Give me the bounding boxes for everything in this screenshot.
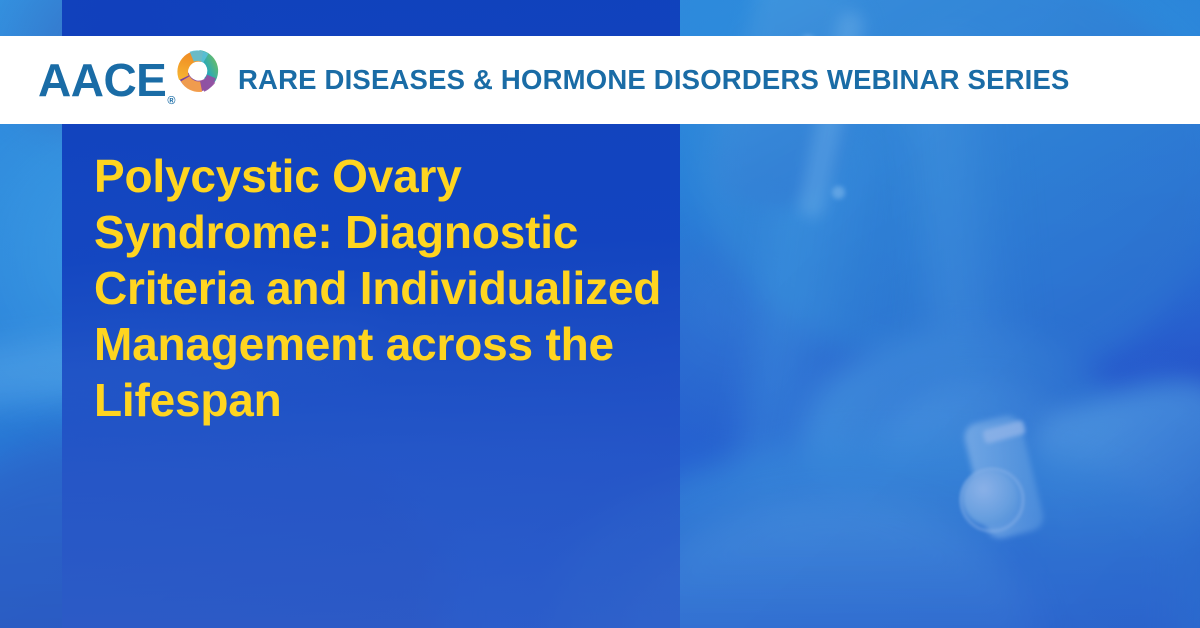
brand-lockup: AACE® xyxy=(38,57,224,103)
registered-trademark-symbol: ® xyxy=(167,95,175,107)
page-title: Polycystic Ovary Syndrome: Diagnostic Cr… xyxy=(94,148,694,428)
aace-wordmark: AACE® xyxy=(38,57,175,103)
promo-graphic: AACE® xyxy=(0,0,1200,628)
header-bar: AACE® xyxy=(0,36,1200,124)
headline-block: Polycystic Ovary Syndrome: Diagnostic Cr… xyxy=(94,148,694,428)
webinar-series-title: RARE DISEASES & HORMONE DISORDERS WEBINA… xyxy=(238,64,1070,96)
aace-trefoil-logo-icon xyxy=(172,45,224,97)
